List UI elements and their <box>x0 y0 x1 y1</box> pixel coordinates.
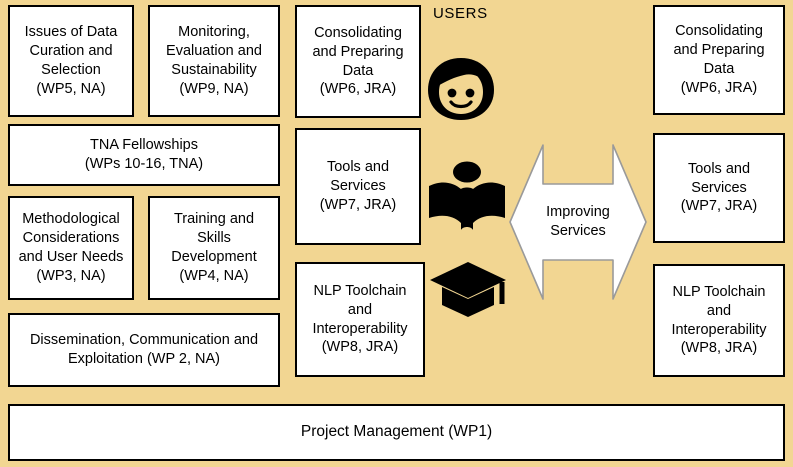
wp-box-wp9-label: Monitoring, Evaluation and Sustainabilit… <box>166 23 262 98</box>
wp-box-wp8-middle[interactable]: NLP Toolchain and Interoperability (WP8,… <box>295 262 425 377</box>
wp-box-wp8-middle-label: NLP Toolchain and Interoperability (WP8,… <box>312 282 407 357</box>
wp-box-wp3[interactable]: Methodological Considerations and User N… <box>8 196 134 300</box>
wp-box-wp8-right[interactable]: NLP Toolchain and Interoperability (WP8,… <box>653 264 785 377</box>
wp-box-wp7-middle-label: Tools and Services (WP7, JRA) <box>320 158 397 215</box>
wp-box-wp6-right[interactable]: Consolidating and Preparing Data (WP6, J… <box>653 5 785 115</box>
users-label: USERS <box>433 5 488 22</box>
wp-box-wp7-right-label: Tools and Services (WP7, JRA) <box>681 160 758 217</box>
improving-services-arrow: Improving Services <box>508 143 648 301</box>
diagram-canvas: Issues of Data Curation and Selection (W… <box>0 0 793 467</box>
wp-box-wp6-right-label: Consolidating and Preparing Data (WP6, J… <box>673 22 764 97</box>
wp-box-wp5-label: Issues of Data Curation and Selection (W… <box>25 23 118 98</box>
wp-box-wp7-right[interactable]: Tools and Services (WP7, JRA) <box>653 133 785 243</box>
wp-box-wp2[interactable]: Dissemination, Communication and Exploit… <box>8 313 280 387</box>
wp-box-wp5[interactable]: Issues of Data Curation and Selection (W… <box>8 5 134 117</box>
wp-box-tna-fellowships[interactable]: TNA Fellowships (WPs 10-16, TNA) <box>8 124 280 186</box>
person-reading-book-icon <box>427 160 507 235</box>
wp-box-wp6-middle[interactable]: Consolidating and Preparing Data (WP6, J… <box>295 5 421 118</box>
wp-box-wp2-label: Dissemination, Communication and Exploit… <box>30 331 258 369</box>
graduation-cap-icon <box>428 260 508 322</box>
wp-box-wp4-label: Training and Skills Development (WP4, NA… <box>171 210 256 285</box>
user-face-icon <box>424 56 498 122</box>
wp-box-project-management[interactable]: Project Management (WP1) <box>8 404 785 461</box>
wp-box-wp9[interactable]: Monitoring, Evaluation and Sustainabilit… <box>148 5 280 117</box>
wp-box-wp8-right-label: NLP Toolchain and Interoperability (WP8,… <box>671 283 766 358</box>
wp-box-project-management-label: Project Management (WP1) <box>301 422 492 442</box>
wp-box-wp4[interactable]: Training and Skills Development (WP4, NA… <box>148 196 280 300</box>
wp-box-tna-fellowships-label: TNA Fellowships (WPs 10-16, TNA) <box>85 136 203 174</box>
wp-box-wp6-middle-label: Consolidating and Preparing Data (WP6, J… <box>312 24 403 99</box>
wp-box-wp7-middle[interactable]: Tools and Services (WP7, JRA) <box>295 128 421 245</box>
wp-box-wp3-label: Methodological Considerations and User N… <box>19 210 124 285</box>
